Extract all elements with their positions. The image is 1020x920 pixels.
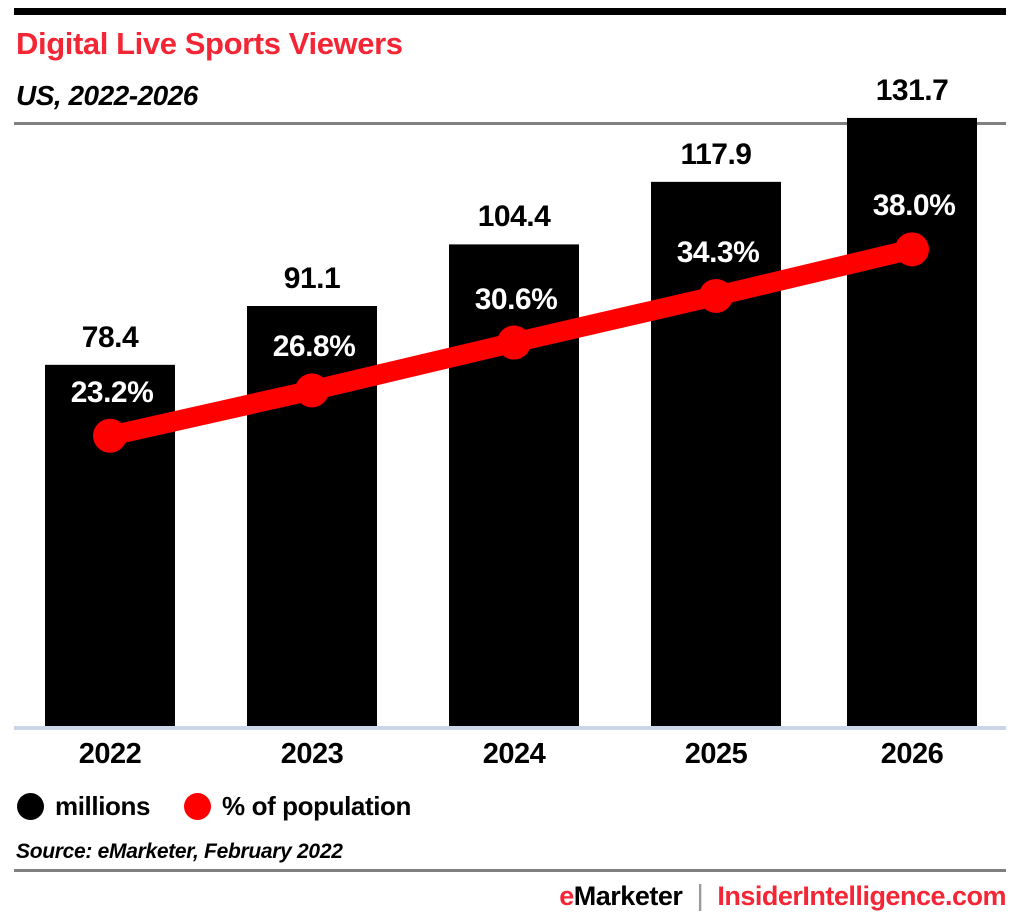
circle-icon: [184, 793, 211, 820]
x-axis-tick-label: 2026: [881, 738, 944, 771]
x-axis-tick-label: 2023: [281, 738, 344, 771]
circle-icon: [17, 793, 44, 820]
bar-value-label: 78.4: [82, 321, 138, 355]
brand-separator: |: [696, 880, 703, 913]
x-axis-tick-label: 2024: [483, 738, 546, 771]
percent-value-label: 38.0%: [873, 189, 956, 223]
legend-item-millions[interactable]: millions: [17, 791, 150, 822]
chart-legend: millions % of population: [17, 791, 411, 822]
brand-footer: eMarketer | InsiderIntelligence.com: [559, 880, 1006, 913]
x-axis-tick-label: 2025: [685, 738, 748, 771]
percent-value-label: 26.8%: [273, 330, 356, 364]
bar-value-label: 131.7: [876, 74, 949, 108]
chart-svg: [0, 0, 1020, 920]
bar: [247, 306, 377, 728]
source-note: Source: eMarketer, February 2022: [16, 840, 343, 864]
chart-plot-area: 78.491.1104.4117.9131.7 23.2%26.8%30.6%3…: [0, 0, 1020, 920]
line-marker: [497, 326, 531, 360]
line-marker: [295, 373, 329, 407]
percent-value-label: 34.3%: [677, 236, 760, 270]
percent-value-label: 23.2%: [71, 376, 154, 410]
x-axis-tick-label: 2022: [79, 738, 142, 771]
bar-value-label: 104.4: [478, 200, 551, 234]
bar-value-label: 91.1: [284, 262, 340, 296]
brand-emarketer-rest: Marketer: [574, 881, 683, 911]
legend-item-percent-of-population[interactable]: % of population: [184, 791, 411, 822]
line-marker: [699, 279, 733, 313]
bar: [449, 244, 579, 728]
legend-item-label: millions: [55, 791, 150, 822]
line-marker: [895, 232, 929, 266]
brand-emarketer-lead: e: [559, 881, 574, 911]
bar-value-label: 117.9: [681, 138, 752, 172]
percent-value-label: 30.6%: [475, 283, 558, 317]
line-marker: [93, 419, 127, 453]
brand-emarketer[interactable]: eMarketer: [559, 881, 682, 912]
brand-insider-intelligence[interactable]: InsiderIntelligence.com: [717, 881, 1006, 912]
chart-page: Digital Live Sports Viewers US, 2022-202…: [0, 0, 1020, 920]
legend-item-label: % of population: [222, 791, 411, 822]
footer-divider: [14, 869, 1006, 872]
